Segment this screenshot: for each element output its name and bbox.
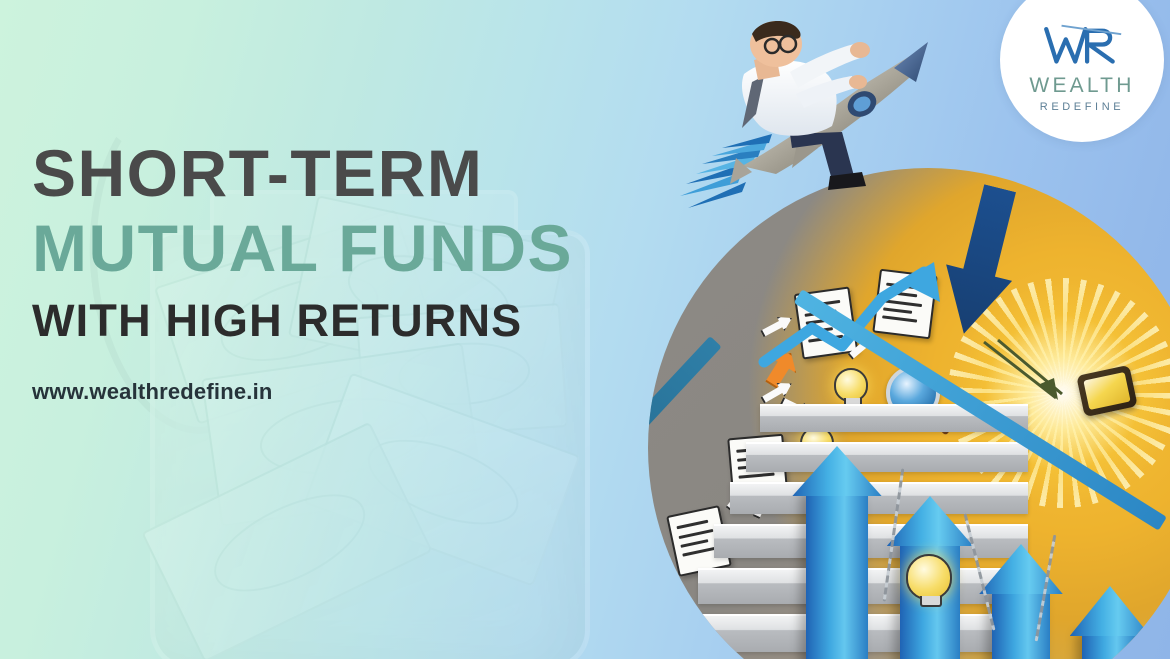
growth-bar-arrow bbox=[806, 492, 868, 659]
stair-step bbox=[746, 442, 1028, 472]
headline-line-3: WITH HIGH RETURNS bbox=[32, 298, 712, 343]
headline-block: SHORT-TERM MUTUAL FUNDS WITH HIGH RETURN… bbox=[32, 140, 712, 405]
stair-step bbox=[714, 524, 1028, 558]
brand-logo[interactable]: WEALTH REDEFINE bbox=[1000, 0, 1164, 142]
website-url[interactable]: www.wealthredefine.in bbox=[32, 379, 712, 405]
circle-illustration bbox=[648, 168, 1170, 659]
logo-brand-name: WEALTH bbox=[1029, 74, 1134, 98]
logo-brand-tagline: REDEFINE bbox=[1040, 101, 1124, 113]
growth-bar-arrow bbox=[1082, 632, 1138, 659]
businessman-on-rocket-icon bbox=[672, 8, 942, 238]
promotional-banner: SHORT-TERM MUTUAL FUNDS WITH HIGH RETURN… bbox=[0, 0, 1170, 659]
lightbulb-icon bbox=[834, 368, 868, 402]
wr-monogram-icon bbox=[1039, 24, 1125, 70]
rocket-flame-icon bbox=[680, 134, 772, 208]
arrow-pair-icon bbox=[978, 336, 1068, 406]
zigzag-growth-arrow-icon bbox=[758, 258, 958, 368]
stair-step bbox=[730, 482, 1028, 514]
headline-line-2: MUTUAL FUNDS bbox=[32, 215, 712, 281]
dollar-bill bbox=[141, 422, 432, 659]
headline-line-1: SHORT-TERM bbox=[32, 140, 712, 206]
lightbulb-icon bbox=[906, 554, 952, 600]
